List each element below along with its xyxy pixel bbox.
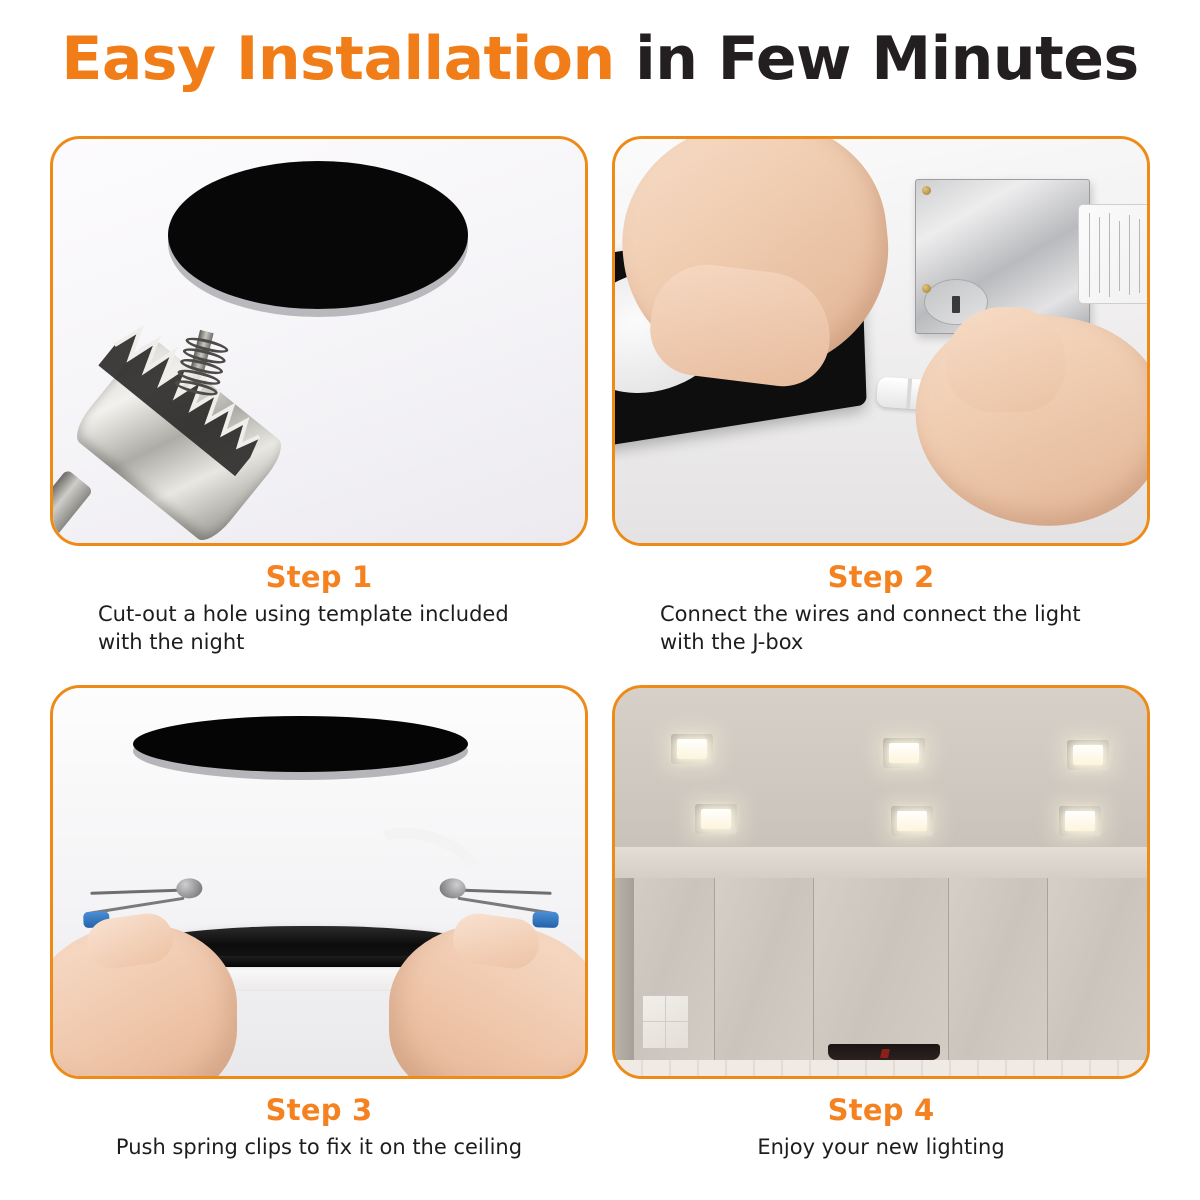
- step-card-2: 300V 300V Step 2 Connect the wires and c…: [612, 136, 1150, 656]
- step-4-photo: [612, 685, 1150, 1079]
- range-hood-appliance: [828, 1044, 940, 1060]
- recessed-downlight-6: [1059, 806, 1101, 836]
- step-2-label: Step 2: [618, 560, 1144, 594]
- tiled-backsplash: [615, 1060, 1147, 1076]
- step-2-photo: 300V 300V: [612, 136, 1150, 546]
- recessed-downlight-1: [671, 734, 713, 764]
- step-3-caption: Step 3 Push spring clips to fix it on th…: [50, 1079, 588, 1161]
- step-1-label: Step 1: [56, 560, 582, 594]
- cabinet-door: [814, 878, 948, 1060]
- step-4-description: Enjoy your new lighting: [618, 1133, 1144, 1161]
- step-3-photo: [50, 685, 588, 1079]
- page-title-rest: in Few Minutes: [615, 24, 1139, 94]
- kitchen-cabinets: [615, 878, 1147, 1060]
- step-4-caption: Step 4 Enjoy your new lighting: [612, 1079, 1150, 1161]
- cut-out-hole-disc-icon: [168, 161, 468, 311]
- cabinet-door: [949, 878, 1049, 1060]
- right-thumb: [945, 307, 1065, 412]
- step-1-photo: [50, 136, 588, 546]
- recessed-downlight-5: [891, 806, 933, 836]
- step-2-caption: Step 2 Connect the wires and connect the…: [612, 546, 1150, 656]
- ceiling-soffit: [615, 847, 1147, 882]
- window-reflection: [642, 995, 690, 1049]
- step-3-description: Push spring clips to fix it on the ceili…: [56, 1133, 582, 1161]
- step-1-description: Cut-out a hole using template included w…: [56, 600, 582, 656]
- ceiling-hole-icon: [133, 716, 468, 778]
- step-3-label: Step 3: [56, 1093, 582, 1127]
- page-title: Easy Installation in Few Minutes: [0, 26, 1200, 92]
- steps-grid: Step 1 Cut-out a hole using template inc…: [50, 136, 1150, 1146]
- cabinet-door: [1048, 878, 1147, 1060]
- installation-steps-page: Easy Installation in Few Minutes: [0, 0, 1200, 1200]
- recessed-downlight-4: [695, 804, 737, 834]
- brand-logo-mark: [880, 1049, 890, 1058]
- cabinet-door: [715, 878, 815, 1060]
- recessed-downlight-2: [883, 738, 925, 768]
- step-card-1: Step 1 Cut-out a hole using template inc…: [50, 136, 588, 656]
- step-4-label: Step 4: [618, 1093, 1144, 1127]
- page-title-highlight: Easy Installation: [61, 24, 614, 94]
- step-1-caption: Step 1 Cut-out a hole using template inc…: [50, 546, 588, 656]
- left-wall-edge: [615, 878, 634, 1060]
- step-card-4: Step 4 Enjoy your new lighting: [612, 685, 1150, 1161]
- recessed-downlight-3: [1067, 740, 1109, 770]
- caution-label: [1078, 204, 1150, 304]
- step-card-3: Step 3 Push spring clips to fix it on th…: [50, 685, 588, 1161]
- drill-shank: [50, 469, 93, 546]
- kitchen-ceiling: [615, 688, 1147, 870]
- hole-saw-icon: [67, 329, 297, 546]
- step-2-description: Connect the wires and connect the light …: [618, 600, 1144, 656]
